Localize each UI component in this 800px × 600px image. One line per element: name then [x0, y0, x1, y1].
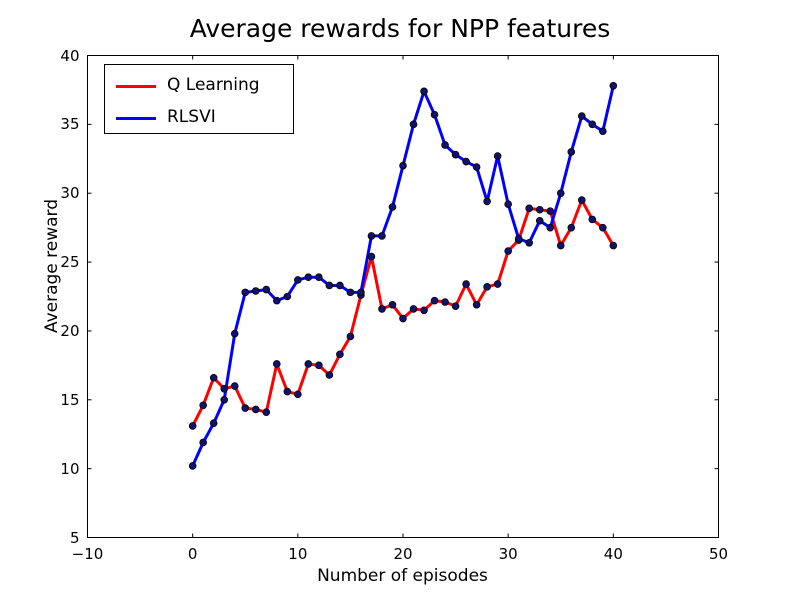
- data-point: [337, 282, 344, 289]
- data-point: [505, 201, 512, 208]
- legend-entry-q-learning: Q Learning: [105, 69, 293, 104]
- data-series: [189, 82, 616, 469]
- data-point: [315, 362, 322, 369]
- y-tick-label: 40: [20, 47, 80, 65]
- data-point: [421, 307, 428, 314]
- data-point: [200, 402, 207, 409]
- data-point: [389, 301, 396, 308]
- data-point: [536, 217, 543, 224]
- data-point: [515, 235, 522, 242]
- legend-label: RLSVI: [167, 107, 216, 127]
- data-point: [221, 385, 228, 392]
- data-point: [473, 164, 480, 171]
- data-point: [494, 281, 501, 288]
- data-point: [431, 297, 438, 304]
- data-point: [347, 333, 354, 340]
- x-tick-label: 20: [373, 545, 433, 563]
- data-point: [305, 361, 312, 368]
- x-tick-label: 0: [163, 545, 223, 563]
- data-point: [452, 151, 459, 158]
- data-point: [294, 277, 301, 284]
- legend-label: Q Learning: [167, 75, 260, 95]
- data-point: [400, 315, 407, 322]
- data-point: [589, 121, 596, 128]
- data-point: [599, 128, 606, 135]
- data-point: [242, 289, 249, 296]
- data-point: [400, 162, 407, 169]
- data-point: [578, 113, 585, 120]
- data-point: [421, 88, 428, 95]
- data-point: [389, 204, 396, 211]
- data-point: [379, 305, 386, 312]
- data-point: [315, 274, 322, 281]
- chart-figure: Average rewards for NPP features −100102…: [0, 0, 800, 600]
- data-point: [326, 282, 333, 289]
- data-point: [242, 405, 249, 412]
- data-point: [200, 439, 207, 446]
- legend-line-swatch: [116, 85, 156, 88]
- data-point: [337, 351, 344, 358]
- series-line-q-learning: [193, 200, 614, 426]
- data-point: [410, 305, 417, 312]
- data-point: [263, 286, 270, 293]
- x-tick-label: 40: [583, 545, 643, 563]
- data-point: [263, 409, 270, 416]
- data-point: [231, 383, 238, 390]
- data-point: [557, 190, 564, 197]
- data-point: [252, 288, 259, 295]
- data-point: [442, 142, 449, 149]
- data-point: [463, 158, 470, 165]
- data-point: [452, 303, 459, 310]
- data-point: [347, 289, 354, 296]
- data-point: [505, 248, 512, 255]
- data-point: [431, 111, 438, 118]
- legend-entry-rlsvi: RLSVI: [105, 101, 293, 136]
- data-point: [557, 242, 564, 249]
- data-point: [568, 149, 575, 156]
- data-point: [284, 388, 291, 395]
- data-point: [294, 391, 301, 398]
- data-point: [252, 406, 259, 413]
- data-point: [368, 233, 375, 240]
- data-point: [189, 462, 196, 469]
- data-point: [442, 299, 449, 306]
- data-point: [547, 224, 554, 231]
- x-tick-label: −10: [58, 545, 118, 563]
- x-tick-label: 10: [268, 545, 328, 563]
- data-point: [410, 121, 417, 128]
- data-point: [379, 233, 386, 240]
- data-point: [231, 330, 238, 337]
- data-point: [368, 253, 375, 260]
- data-point: [358, 289, 365, 296]
- data-point: [221, 396, 228, 403]
- data-point: [547, 208, 554, 215]
- data-point: [305, 274, 312, 281]
- data-point: [578, 197, 585, 204]
- data-point: [599, 224, 606, 231]
- data-point: [526, 239, 533, 246]
- x-tick-label: 30: [478, 545, 538, 563]
- data-point: [536, 206, 543, 213]
- data-point: [473, 301, 480, 308]
- data-point: [610, 242, 617, 249]
- data-point: [210, 420, 217, 427]
- data-point: [484, 283, 491, 290]
- data-point: [326, 372, 333, 379]
- legend-line-swatch: [116, 117, 156, 120]
- data-point: [189, 423, 196, 430]
- x-axis-label: Number of episodes: [87, 566, 718, 586]
- data-point: [273, 361, 280, 368]
- y-axis-label: Average reward: [42, 66, 62, 466]
- data-point: [210, 374, 217, 381]
- data-point: [610, 82, 617, 89]
- data-point: [284, 293, 291, 300]
- data-point: [484, 198, 491, 205]
- data-point: [273, 297, 280, 304]
- data-point: [589, 216, 596, 223]
- data-point: [526, 205, 533, 212]
- y-tick-label: 5: [20, 529, 80, 547]
- x-tick-label: 50: [689, 545, 749, 563]
- data-point: [494, 153, 501, 160]
- data-point: [568, 224, 575, 231]
- data-point: [463, 281, 470, 288]
- chart-legend: Q LearningRLSVI: [104, 64, 294, 134]
